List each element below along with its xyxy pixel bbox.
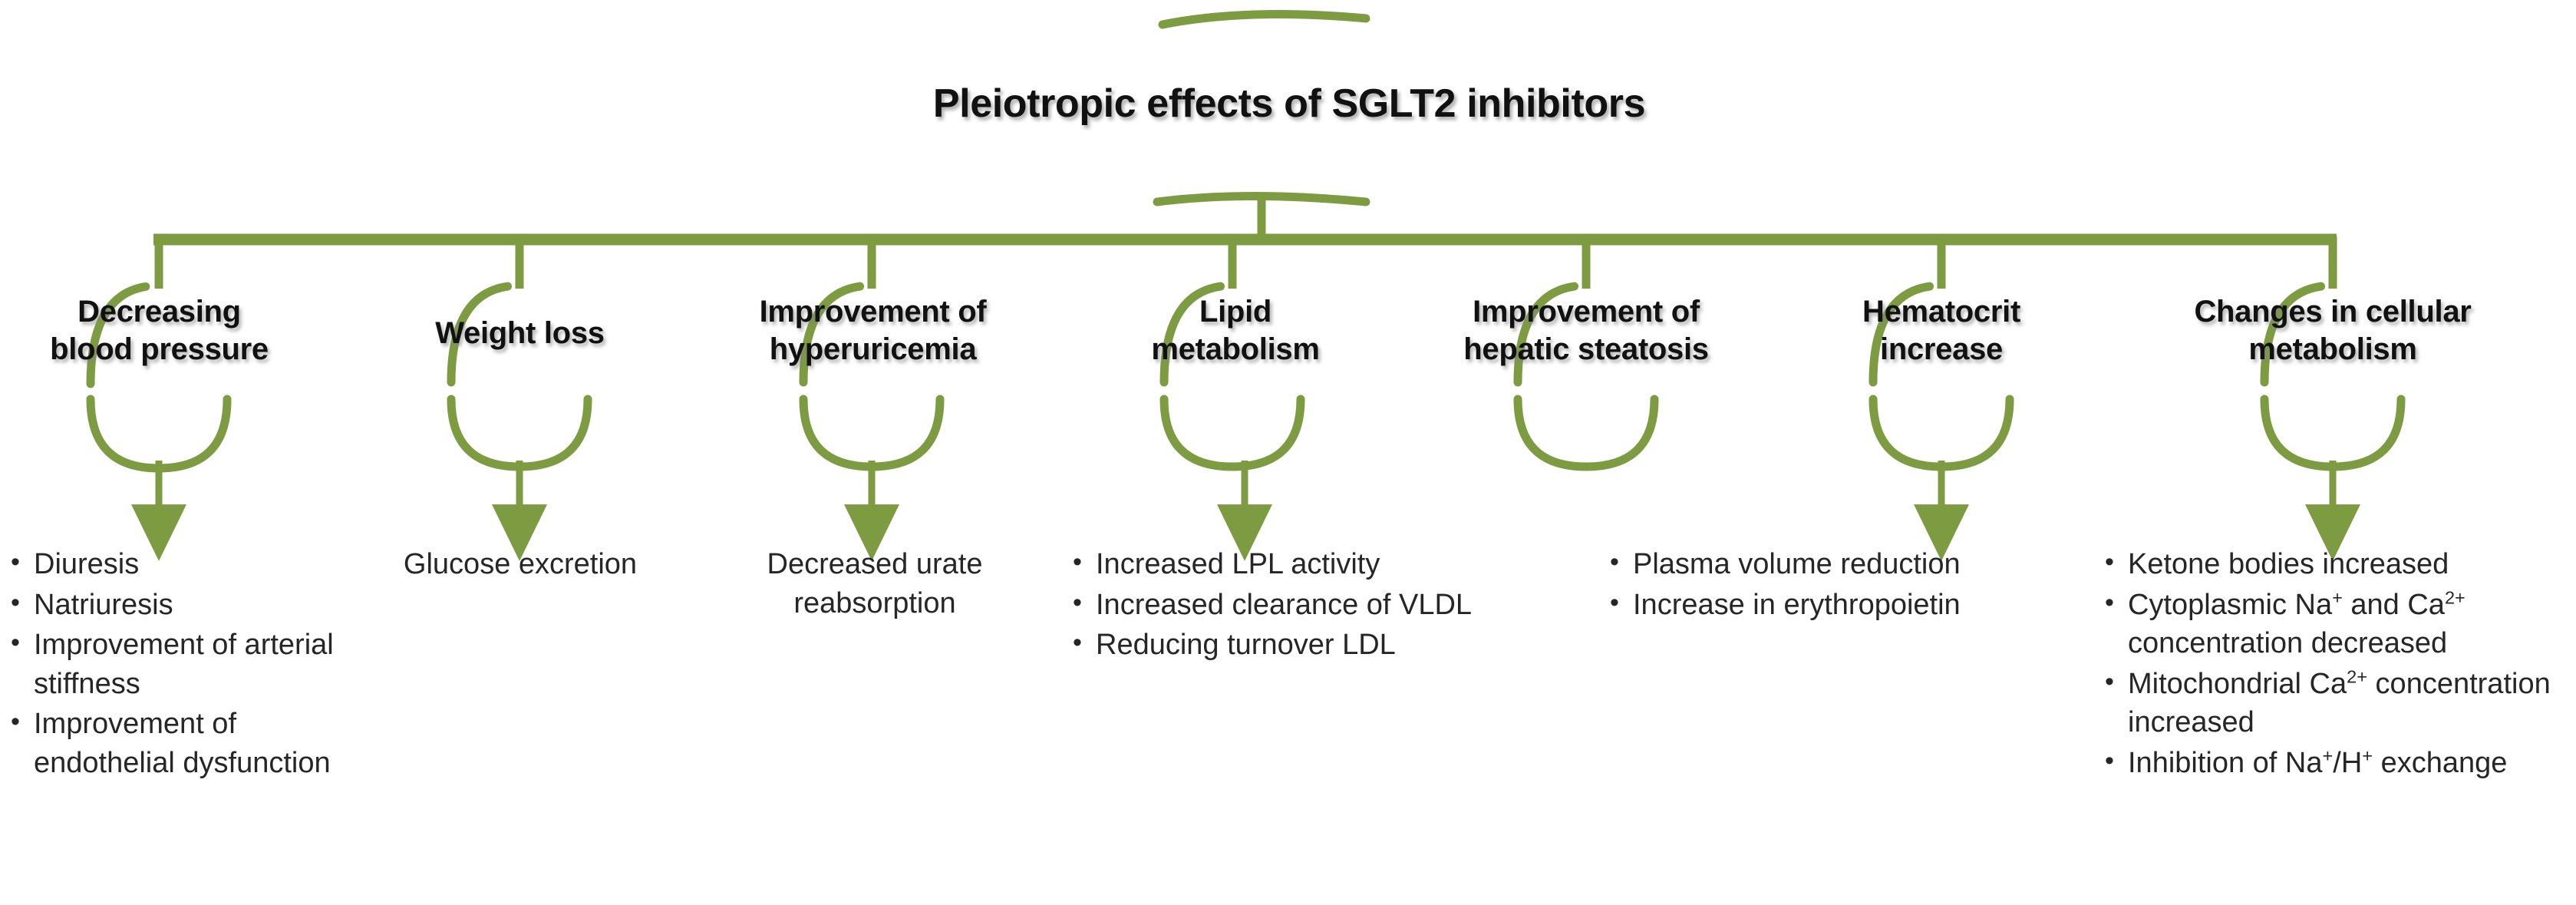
node-label-lipid-metabolism: Lipid metabolism <box>1105 293 1366 368</box>
list-item: Increased clearance of VLDL <box>1067 586 1542 625</box>
node-label-improvement-of-hepatic-steatosis: Improvement of hepatic steatosis <box>1429 293 1743 368</box>
page-title: Pleiotropic effects of SGLT2 inhibitors <box>691 81 1888 127</box>
detail-line: Decreased urate <box>733 545 1017 584</box>
list-item-text: Mitochondrial Ca <box>2128 668 2347 700</box>
list-item-text: /H <box>2333 747 2362 779</box>
superscript-charge: + <box>2362 745 2373 765</box>
node-label-line: Hematocrit <box>1807 293 2076 331</box>
list-item: Inhibition of Na+/H+ exchange <box>2099 744 2576 783</box>
node-label-line: Changes in cellular <box>2160 293 2505 331</box>
list-item: Diuresis <box>5 545 365 584</box>
superscript-charge: 2+ <box>2445 587 2466 607</box>
node-label-line: increase <box>1807 331 2076 368</box>
diagram-canvas: Pleiotropic effects of SGLT2 inhibitors … <box>0 0 2576 905</box>
node-label-line: metabolism <box>2160 331 2505 368</box>
list-item: Natriuresis <box>5 586 365 625</box>
list-item: Increased LPL activity <box>1067 545 1542 584</box>
detail-list-blood-pressure: Diuresis Natriuresis Improvement of arte… <box>5 545 365 784</box>
node-label-decreasing-blood-pressure: Decreasing blood pressure <box>23 293 295 368</box>
superscript-charge: + <box>2332 587 2343 607</box>
list-item-text: and Ca <box>2343 589 2445 621</box>
node-label-line: blood pressure <box>23 331 295 368</box>
node-label-line: Lipid <box>1105 293 1366 331</box>
node-label-line: Decreasing <box>23 293 295 331</box>
list-item: Increase in erythropoietin <box>1604 586 2080 625</box>
node-label-weight-loss: Weight loss <box>384 315 656 352</box>
detail-line: Glucose excretion <box>367 545 674 584</box>
text-layer: Pleiotropic effects of SGLT2 inhibitors … <box>0 0 2576 905</box>
node-label-line: Improvement of <box>1429 293 1743 331</box>
node-label-line: metabolism <box>1105 331 1366 368</box>
detail-list-hematocrit: Plasma volume reduction Increase in eryt… <box>1604 545 2080 626</box>
list-item: Reducing turnover LDL <box>1067 626 1542 665</box>
detail-line: reabsorption <box>733 584 1017 623</box>
list-item: Improvement of endothelial dysfunction <box>5 705 365 782</box>
list-item-text: exchange <box>2373 747 2507 779</box>
node-label-improvement-of-hyperuricemia: Improvement of hyperuricemia <box>729 293 1017 368</box>
list-item: Mitochondrial Ca2+ concentration increas… <box>2099 665 2576 742</box>
superscript-charge: + <box>2323 745 2334 765</box>
node-label-hematocrit-increase: Hematocrit increase <box>1807 293 2076 368</box>
list-item-text: concentration decreased <box>2128 627 2447 659</box>
detail-text-hyperuricemia: Decreased urate reabsorption <box>733 545 1017 623</box>
list-item: Improvement of arterial stiffness <box>5 626 365 703</box>
node-label-line: Weight loss <box>384 315 656 352</box>
list-item: Plasma volume reduction <box>1604 545 2080 584</box>
list-item-text: Cytoplasmic Na <box>2128 589 2332 621</box>
node-label-line: hyperuricemia <box>729 331 1017 368</box>
detail-list-lipid: Increased LPL activity Increased clearan… <box>1067 545 1542 666</box>
superscript-charge: 2+ <box>2347 666 2367 686</box>
detail-text-weight-loss: Glucose excretion <box>367 545 674 584</box>
node-label-line: hepatic steatosis <box>1429 331 1743 368</box>
node-label-line: Improvement of <box>729 293 1017 331</box>
detail-list-cellular-metabolism: Ketone bodies increased Cytoplasmic Na+ … <box>2099 545 2576 784</box>
list-item: Cytoplasmic Na+ and Ca2+ concentration d… <box>2099 586 2576 663</box>
list-item: Ketone bodies increased <box>2099 545 2576 584</box>
node-label-changes-in-cellular-metabolism: Changes in cellular metabolism <box>2160 293 2505 368</box>
list-item-text: Inhibition of Na <box>2128 747 2323 779</box>
